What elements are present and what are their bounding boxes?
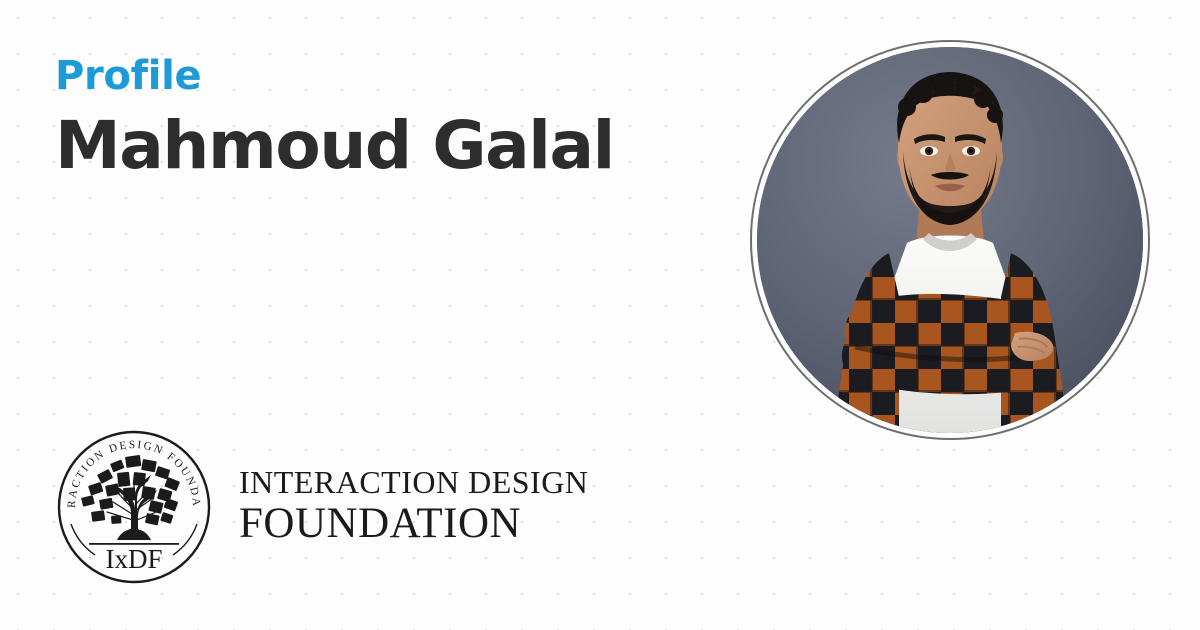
brand-lockup: INTERACTION DESIGN FOUNDATION xyxy=(55,428,588,586)
avatar xyxy=(750,40,1150,440)
heading-block: Profile Mahmoud Galal xyxy=(55,52,695,186)
page-eyebrow: Profile xyxy=(55,52,695,100)
avatar-ring xyxy=(750,40,1150,440)
seal-monogram-text: IxDF xyxy=(105,544,162,574)
profile-card: Profile Mahmoud Galal xyxy=(0,0,1200,630)
page-title: Mahmoud Galal xyxy=(55,106,695,186)
ixdf-seal-logo: INTERACTION DESIGN FOUNDATION xyxy=(55,428,213,586)
wordmark-line-interaction-design: INTERACTION DESIGN xyxy=(239,466,588,498)
ixdf-wordmark: INTERACTION DESIGN FOUNDATION xyxy=(239,466,588,549)
wordmark-line-foundation: FOUNDATION xyxy=(239,502,588,545)
